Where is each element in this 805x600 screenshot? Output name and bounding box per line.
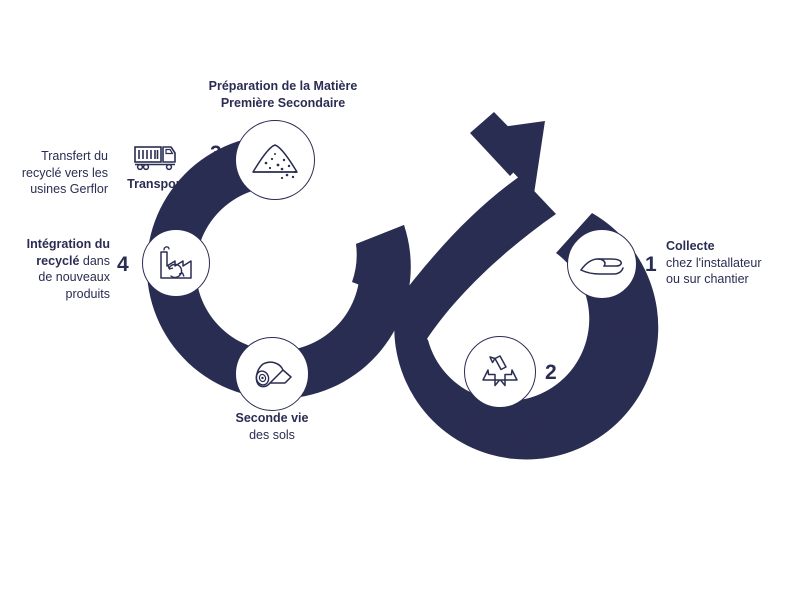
crossover-band xyxy=(392,176,556,342)
step-label-5-bold: Seconde vie xyxy=(236,411,309,425)
floor-roll-icon xyxy=(249,354,295,394)
step-number-2: 2 xyxy=(545,362,557,383)
step-number-1: 1 xyxy=(645,254,657,275)
step-label-2-text: Arrivée au centre de recyclage et tri xyxy=(443,411,563,442)
step-label-4: Intégration du recyclé dans de nouveaux … xyxy=(0,236,110,302)
step-label-1: Collecte chez l'installateur ou sur chan… xyxy=(666,238,805,288)
step-node-2[interactable] xyxy=(464,336,536,408)
step-number-5: 5 xyxy=(211,364,223,385)
step-node-4[interactable] xyxy=(142,229,210,297)
infinity-loop-graphic xyxy=(0,0,805,600)
step-label-5: Seconde vie des sols xyxy=(190,410,354,443)
transport-left: Transport xyxy=(118,143,194,191)
step-label-1-bold: Collecte xyxy=(666,239,715,253)
step-label-2: Arrivée au centre de recyclage et tri xyxy=(418,410,588,443)
truck-icon xyxy=(591,313,637,343)
recycle-icon xyxy=(478,350,522,394)
transport-right: Transport xyxy=(576,313,652,361)
transport-left-caption: Transport xyxy=(127,177,185,191)
step-number-4: 4 xyxy=(117,254,129,275)
granule-pile-icon xyxy=(249,139,301,181)
transport-left-note-text: Transfert du recyclé vers les usines Ger… xyxy=(22,149,108,196)
step-node-1[interactable] xyxy=(567,229,637,299)
factory-recycle-icon xyxy=(155,242,197,284)
step-label-3: Préparation de la Matière Première Secon… xyxy=(183,78,383,111)
transport-left-note: Transfert du recyclé vers les usines Ger… xyxy=(0,148,108,198)
step-label-1-rest: chez l'installateur ou sur chantier xyxy=(666,256,762,287)
step-label-5-rest: des sols xyxy=(249,428,295,442)
transport-right-caption: Transport xyxy=(585,347,643,361)
step-number-3: 3 xyxy=(210,143,222,164)
step-node-3[interactable] xyxy=(235,120,315,200)
step-node-5[interactable] xyxy=(235,337,309,411)
truck-icon xyxy=(133,143,179,173)
step-label-3-text: Préparation de la Matière Première Secon… xyxy=(209,79,358,110)
infographic-canvas: 3 Préparation de la Matière Première Sec… xyxy=(0,0,805,600)
hand-icon xyxy=(578,249,626,279)
